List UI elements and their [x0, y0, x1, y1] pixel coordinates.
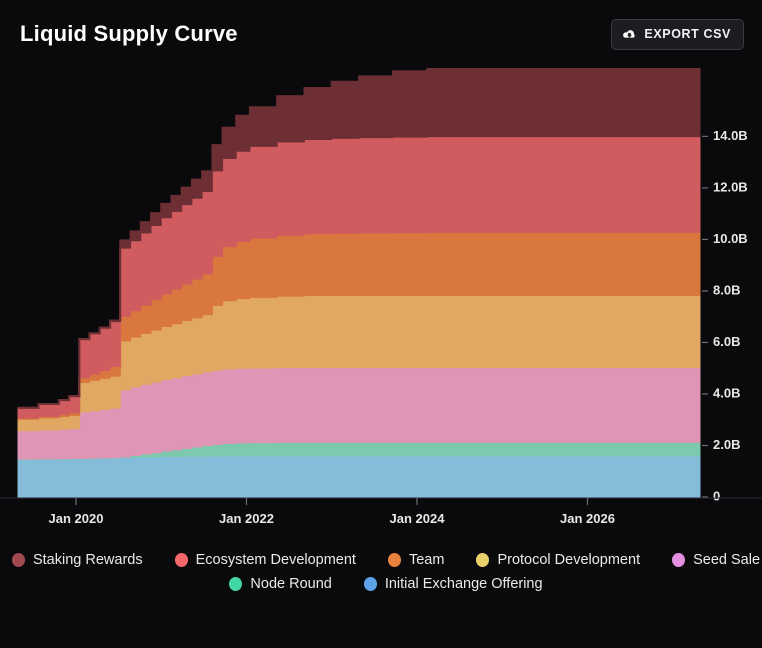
legend-swatch-protocol-development	[476, 553, 489, 567]
legend-item-seed-sale[interactable]: Seed Sale	[672, 552, 760, 568]
legend-item-protocol-development[interactable]: Protocol Development	[476, 552, 640, 568]
y-tick-label: 14.0B	[713, 128, 748, 143]
legend-swatch-ecosystem-development	[175, 553, 188, 567]
chart-legend: Staking RewardsEcosystem DevelopmentTeam…	[0, 552, 762, 592]
legend-label-staking-rewards: Staking Rewards	[33, 552, 143, 568]
legend-label-team: Team	[409, 552, 444, 568]
y-tick-label: 0	[713, 488, 720, 503]
x-axis: Jan 2020Jan 2022Jan 2024Jan 2026	[0, 498, 762, 526]
legend-row-secondary: Node RoundInitial Exchange Offering	[203, 576, 558, 592]
y-tick-label: 8.0B	[713, 282, 740, 297]
legend-item-team[interactable]: Team	[388, 552, 444, 568]
x-tick-label: Jan 2020	[49, 511, 104, 526]
y-tick-label: 2.0B	[713, 437, 740, 452]
x-tick-label: Jan 2026	[560, 511, 615, 526]
legend-label-seed-sale: Seed Sale	[693, 552, 760, 568]
cloud-download-icon	[622, 27, 637, 42]
legend-label-node-round: Node Round	[250, 576, 331, 592]
legend-item-staking-rewards[interactable]: Staking Rewards	[12, 552, 143, 568]
legend-item-initial-exchange-offering[interactable]: Initial Exchange Offering	[364, 576, 543, 592]
y-tick-label: 6.0B	[713, 334, 740, 349]
x-tick-label: Jan 2022	[219, 511, 274, 526]
export-csv-button[interactable]: EXPORT CSV	[611, 19, 744, 50]
legend-swatch-initial-exchange-offering	[364, 577, 377, 591]
export-csv-label: EXPORT CSV	[644, 27, 731, 41]
legend-row-primary: Staking RewardsEcosystem DevelopmentTeam…	[0, 552, 762, 568]
x-tick-label: Jan 2024	[390, 511, 446, 526]
y-axis: 02.0B4.0B6.0B8.0B10.0B12.0B14.0B	[702, 128, 748, 504]
legend-item-ecosystem-development[interactable]: Ecosystem Development	[175, 552, 356, 568]
legend-swatch-team	[388, 553, 401, 567]
legend-swatch-node-round	[229, 577, 242, 591]
legend-label-protocol-development: Protocol Development	[497, 552, 640, 568]
liquid-supply-curve-panel: Liquid Supply Curve EXPORT CSV 02.0B4.0B…	[0, 0, 762, 648]
chart-canvas: 02.0B4.0B6.0B8.0B10.0B12.0B14.0B Jan 202…	[0, 68, 762, 548]
legend-label-initial-exchange-offering: Initial Exchange Offering	[385, 576, 543, 592]
legend-swatch-staking-rewards	[12, 553, 25, 567]
y-tick-label: 4.0B	[713, 385, 740, 400]
y-tick-label: 10.0B	[713, 231, 748, 246]
area-series-group	[18, 68, 700, 497]
legend-swatch-seed-sale	[672, 553, 685, 567]
page-title: Liquid Supply Curve	[20, 21, 238, 47]
panel-header: Liquid Supply Curve EXPORT CSV	[0, 0, 762, 68]
y-tick-label: 12.0B	[713, 179, 748, 194]
legend-item-node-round[interactable]: Node Round	[229, 576, 331, 592]
legend-label-ecosystem-development: Ecosystem Development	[196, 552, 356, 568]
stacked-area-chart[interactable]: 02.0B4.0B6.0B8.0B10.0B12.0B14.0B Jan 202…	[0, 68, 762, 548]
area-initial-exchange-offering	[18, 456, 700, 497]
